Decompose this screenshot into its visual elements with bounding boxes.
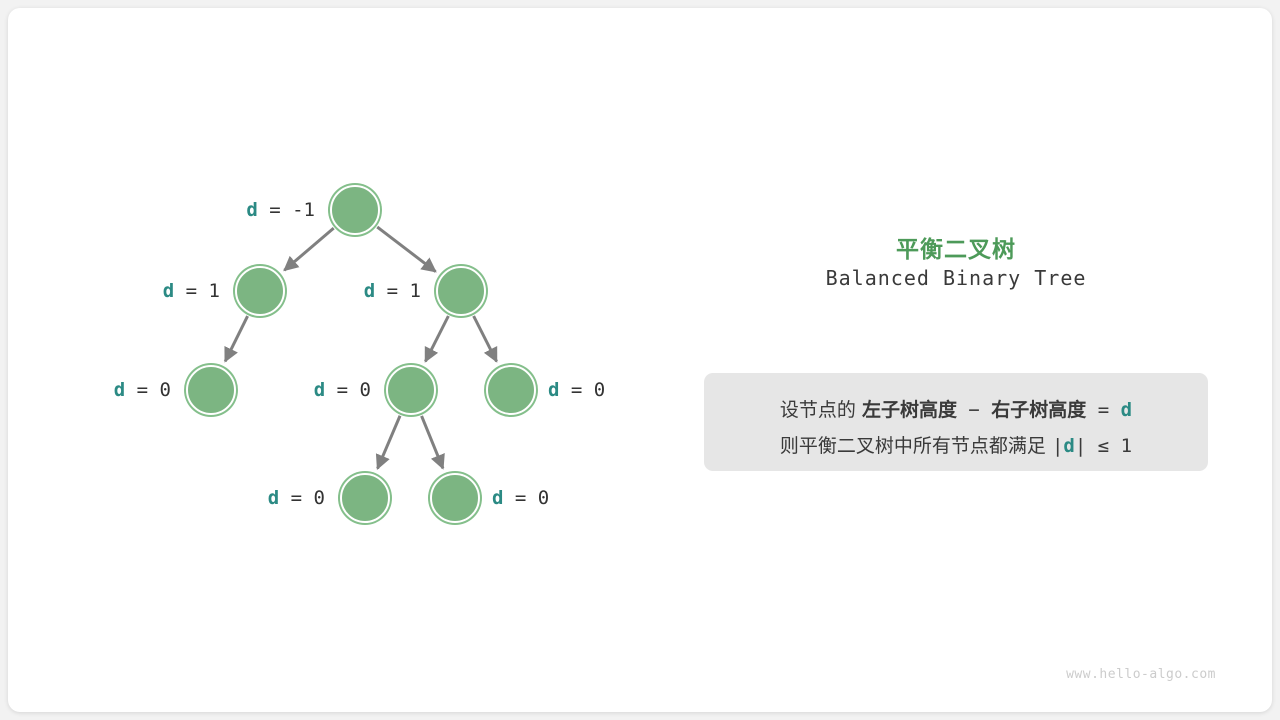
balance-key: d <box>548 379 559 401</box>
tree-diagram: d = -1d = 1d = 1d = 0d = 0d = 0d = 0d = … <box>8 8 668 712</box>
d-symbol-1: d <box>1121 399 1132 421</box>
watermark: www.hello-algo.com <box>1066 667 1216 682</box>
tree-node[interactable] <box>486 365 536 415</box>
definition-line-2: 则平衡二叉树中所有节点都满足 |d| ≤ 1 <box>704 431 1208 458</box>
diagram-card: d = -1d = 1d = 1d = 0d = 0d = 0d = 0d = … <box>8 8 1272 712</box>
info-panel: 平衡二叉树 Balanced Binary Tree 设节点的 左子树高度 − … <box>668 8 1272 712</box>
bound-value: 1 <box>1121 435 1132 457</box>
balance-key: d <box>246 199 257 221</box>
balance-key: d <box>492 487 503 509</box>
node-balance-label: d = 1 <box>364 280 421 302</box>
balance-key: d <box>163 280 174 302</box>
less-equal-operator: ≤ <box>1086 435 1120 457</box>
tree-edge <box>422 416 443 468</box>
definition-box: 设节点的 左子树高度 − 右子树高度 = d 则平衡二叉树中所有节点都满足 |d… <box>704 373 1208 471</box>
node-balance-label: d = -1 <box>246 199 315 221</box>
abs-bar-close: | <box>1075 435 1086 457</box>
balance-key: d <box>364 280 375 302</box>
left-subtree-height-term: 左子树高度 <box>862 399 957 421</box>
definition-prefix-1: 设节点的 <box>780 399 862 421</box>
tree-edge <box>225 316 247 361</box>
panel-title: 平衡二叉树 <box>668 230 1244 264</box>
abs-bar-open: | <box>1052 435 1063 457</box>
tree-edge <box>377 227 435 272</box>
tree-node[interactable] <box>340 473 390 523</box>
equals-operator: = <box>1086 399 1120 421</box>
tree-node[interactable] <box>330 185 380 235</box>
minus-operator: − <box>957 399 991 421</box>
balance-value: = 1 <box>375 280 421 302</box>
tree-node[interactable] <box>436 266 486 316</box>
node-balance-label: d = 1 <box>163 280 220 302</box>
tree-edge <box>425 316 448 361</box>
balance-value: = 0 <box>325 379 371 401</box>
tree-edges-svg <box>8 8 668 712</box>
node-balance-label: d = 0 <box>268 487 325 509</box>
balance-key: d <box>314 379 325 401</box>
definition-prefix-2: 则平衡二叉树中所有节点都满足 <box>780 435 1052 457</box>
tree-node[interactable] <box>430 473 480 523</box>
balance-value: = 1 <box>174 280 220 302</box>
tree-node[interactable] <box>235 266 285 316</box>
tree-edge <box>378 416 400 469</box>
balance-value: = 0 <box>279 487 325 509</box>
d-symbol-2: d <box>1063 435 1074 457</box>
right-subtree-height-term: 右子树高度 <box>991 399 1086 421</box>
balance-value: = 0 <box>503 487 549 509</box>
node-balance-label: d = 0 <box>314 379 371 401</box>
balance-key: d <box>268 487 279 509</box>
balance-value: = 0 <box>559 379 605 401</box>
tree-edge <box>474 316 497 361</box>
balance-value: = 0 <box>125 379 171 401</box>
balance-key: d <box>114 379 125 401</box>
tree-node[interactable] <box>386 365 436 415</box>
definition-line-1: 设节点的 左子树高度 − 右子树高度 = d <box>704 395 1208 422</box>
panel-subtitle: Balanced Binary Tree <box>668 266 1244 290</box>
tree-node[interactable] <box>186 365 236 415</box>
balance-value: = -1 <box>258 199 315 221</box>
edge-group <box>225 227 496 469</box>
node-balance-label: d = 0 <box>548 379 605 401</box>
node-balance-label: d = 0 <box>492 487 549 509</box>
tree-edge <box>284 228 333 270</box>
node-balance-label: d = 0 <box>114 379 171 401</box>
